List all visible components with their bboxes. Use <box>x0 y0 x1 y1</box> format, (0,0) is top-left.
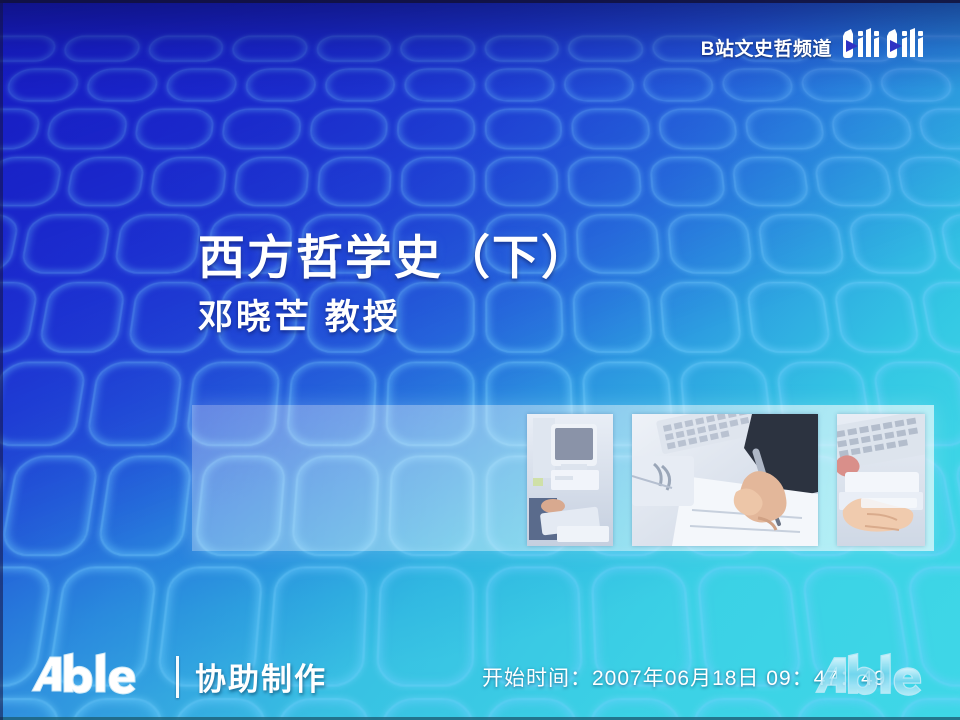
assist-credit-text: 协助制作 <box>195 654 327 699</box>
photo-strip <box>527 414 925 546</box>
footer-divider <box>176 656 179 698</box>
edge-top <box>0 0 960 3</box>
background-gradient-overlay <box>0 0 960 720</box>
able-watermark <box>814 649 946 706</box>
page-title: 西方哲学史（下） <box>198 232 590 285</box>
page-subtitle: 邓晓芒 教授 <box>198 297 590 339</box>
photo-desktop-computer <box>527 414 613 546</box>
photo-hand-writing <box>632 414 818 546</box>
bilibili-logo <box>842 28 938 67</box>
start-time-label: 开始时间： <box>482 667 592 690</box>
edge-left <box>0 0 3 720</box>
title-block: 西方哲学史（下） 邓晓芒 教授 <box>198 232 590 339</box>
able-logo <box>30 651 160 702</box>
slide-canvas: B站文史哲频道 <box>0 0 960 720</box>
channel-name: B站文史哲频道 <box>701 34 832 61</box>
header: B站文史哲频道 <box>701 28 938 67</box>
photo-hands-keyboard <box>837 414 925 546</box>
footer-branding: 协助制作 <box>30 651 327 702</box>
